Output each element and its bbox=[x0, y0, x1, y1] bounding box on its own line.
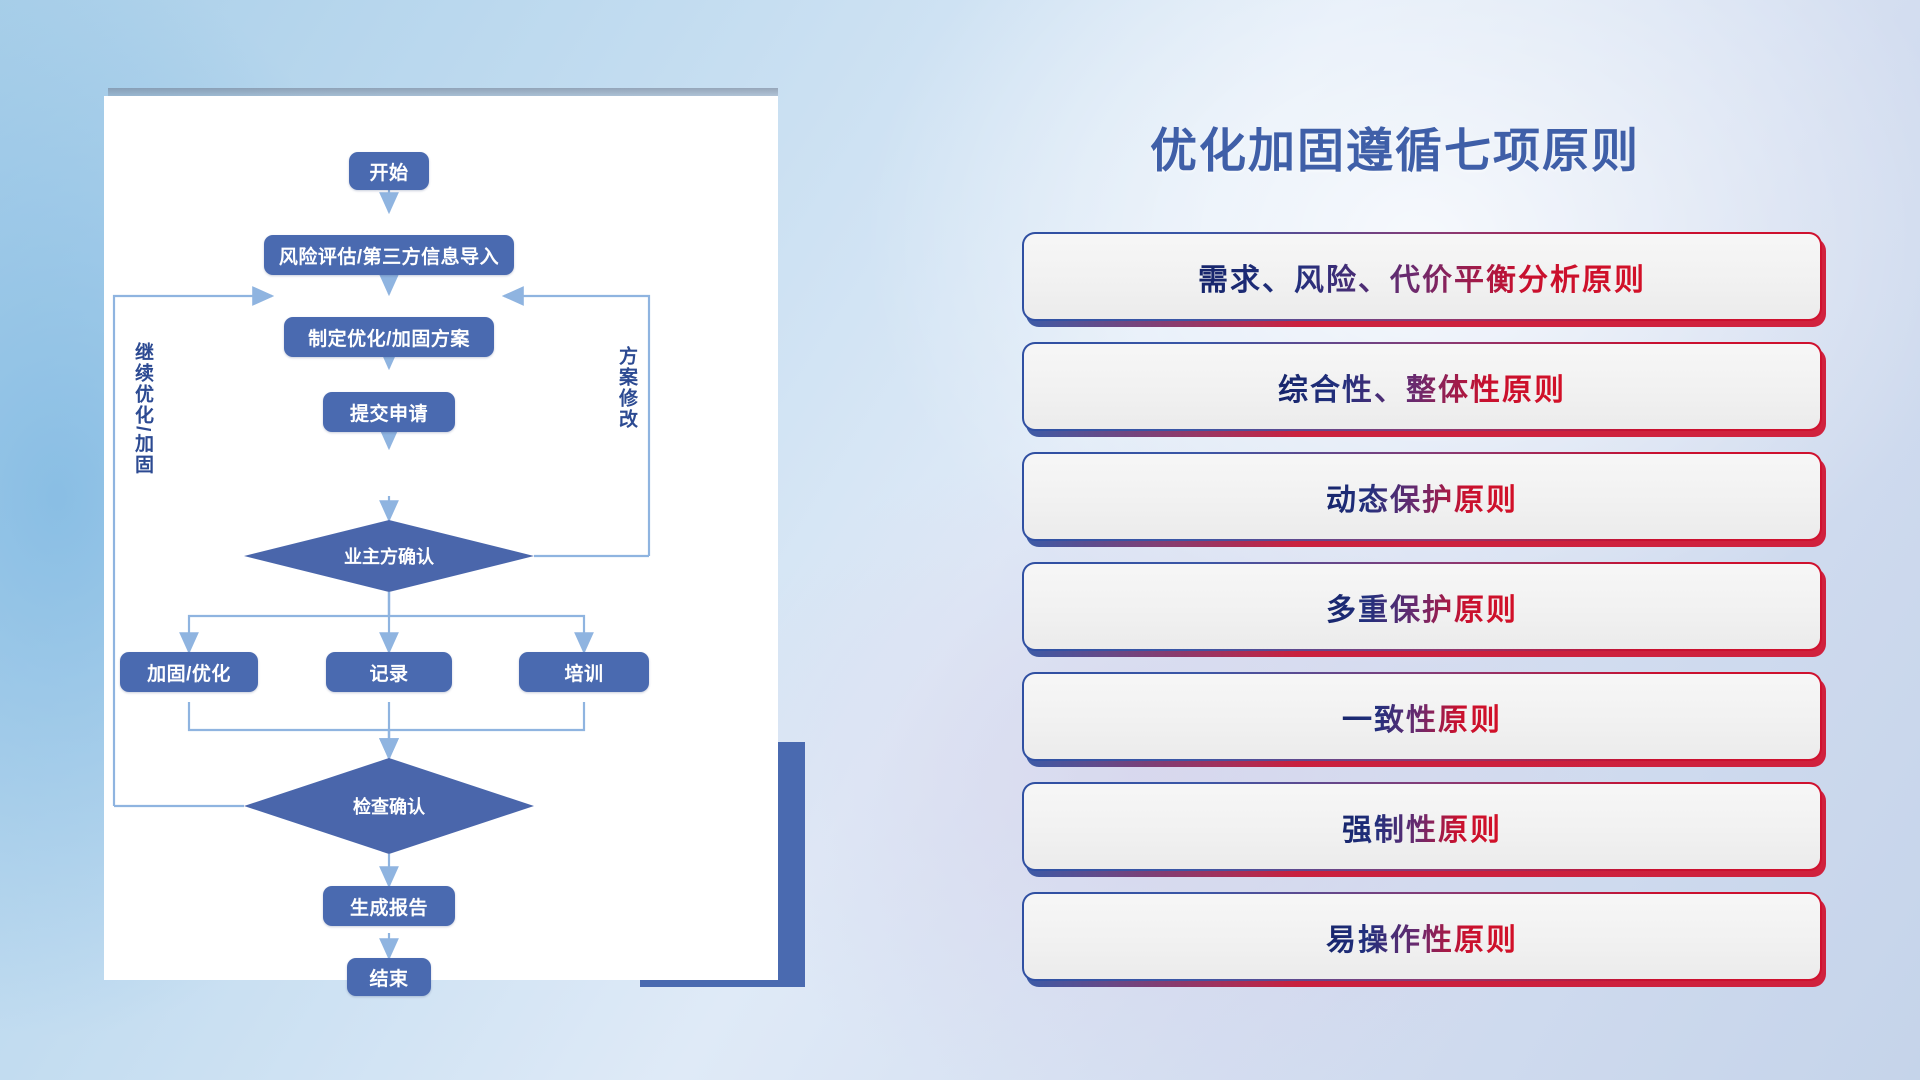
flow-node-label: 加固/优化 bbox=[147, 659, 231, 686]
principle-label: 一致性原则 bbox=[1342, 695, 1502, 739]
principle-label: 动态保护原则 bbox=[1326, 475, 1518, 519]
principle-item[interactable]: 动态保护原则 bbox=[1022, 452, 1822, 541]
flow-node-risk-assessment[interactable]: 风险评估/第三方信息导入 bbox=[264, 235, 514, 275]
principle-pill[interactable]: 强制性原则 bbox=[1022, 782, 1822, 871]
principle-item[interactable]: 易操作性原则 bbox=[1022, 892, 1822, 981]
flow-edge-label-plan-revision: 方案修改 bbox=[616, 346, 636, 430]
slide-canvas: 开始 风险评估/第三方信息导入 制定优化/加固方案 提交申请 业主方确认 加固/… bbox=[0, 0, 1920, 1080]
principle-item[interactable]: 综合性、整体性原则 bbox=[1022, 342, 1822, 431]
flow-node-training[interactable]: 培训 bbox=[519, 652, 649, 692]
principle-item[interactable]: 一致性原则 bbox=[1022, 672, 1822, 761]
flow-node-label: 生成报告 bbox=[350, 893, 428, 920]
principle-item[interactable]: 需求、风险、代价平衡分析原则 bbox=[1022, 232, 1822, 321]
flow-node-label: 培训 bbox=[564, 659, 603, 686]
principle-label: 需求、风险、代价平衡分析原则 bbox=[1198, 255, 1646, 299]
principle-label: 易操作性原则 bbox=[1326, 915, 1518, 959]
principle-label: 综合性、整体性原则 bbox=[1278, 365, 1566, 409]
flow-node-label: 检查确认 bbox=[353, 793, 425, 819]
principle-pill[interactable]: 易操作性原则 bbox=[1022, 892, 1822, 981]
flow-node-start[interactable]: 开始 bbox=[349, 152, 429, 190]
flow-node-label: 记录 bbox=[369, 659, 408, 686]
flow-node-label: 风险评估/第三方信息导入 bbox=[279, 242, 499, 269]
flow-node-label: 结束 bbox=[369, 964, 408, 991]
principle-pill[interactable]: 多重保护原则 bbox=[1022, 562, 1822, 651]
flow-node-record[interactable]: 记录 bbox=[326, 652, 452, 692]
principle-item[interactable]: 强制性原则 bbox=[1022, 782, 1822, 871]
page-title: 优化加固遵循七项原则 bbox=[1150, 112, 1640, 181]
principle-pill[interactable]: 一致性原则 bbox=[1022, 672, 1822, 761]
principle-pill[interactable]: 需求、风险、代价平衡分析原则 bbox=[1022, 232, 1822, 321]
flow-node-label: 制定优化/加固方案 bbox=[308, 324, 470, 351]
principle-pill[interactable]: 动态保护原则 bbox=[1022, 452, 1822, 541]
principle-pill[interactable]: 综合性、整体性原则 bbox=[1022, 342, 1822, 431]
flow-node-plan[interactable]: 制定优化/加固方案 bbox=[284, 317, 494, 357]
flow-node-label: 提交申请 bbox=[350, 399, 428, 426]
flow-node-label: 开始 bbox=[369, 158, 408, 185]
principles-list: 需求、风险、代价平衡分析原则 综合性、整体性原则 动态保护原则 多重保护原则 一 bbox=[1022, 232, 1822, 1002]
flow-edge-label-continue-optimize: 继续优化/加固 bbox=[132, 342, 152, 475]
flowchart-card: 开始 风险评估/第三方信息导入 制定优化/加固方案 提交申请 业主方确认 加固/… bbox=[104, 96, 778, 980]
flow-node-label: 业主方确认 bbox=[344, 543, 434, 569]
principle-label: 多重保护原则 bbox=[1326, 585, 1518, 629]
flow-node-submit-application[interactable]: 提交申请 bbox=[323, 392, 455, 432]
flow-node-end[interactable]: 结束 bbox=[347, 958, 431, 996]
principle-label: 强制性原则 bbox=[1342, 805, 1502, 849]
principle-item[interactable]: 多重保护原则 bbox=[1022, 562, 1822, 651]
flow-node-generate-report[interactable]: 生成报告 bbox=[323, 886, 455, 926]
flow-node-reinforce[interactable]: 加固/优化 bbox=[120, 652, 258, 692]
